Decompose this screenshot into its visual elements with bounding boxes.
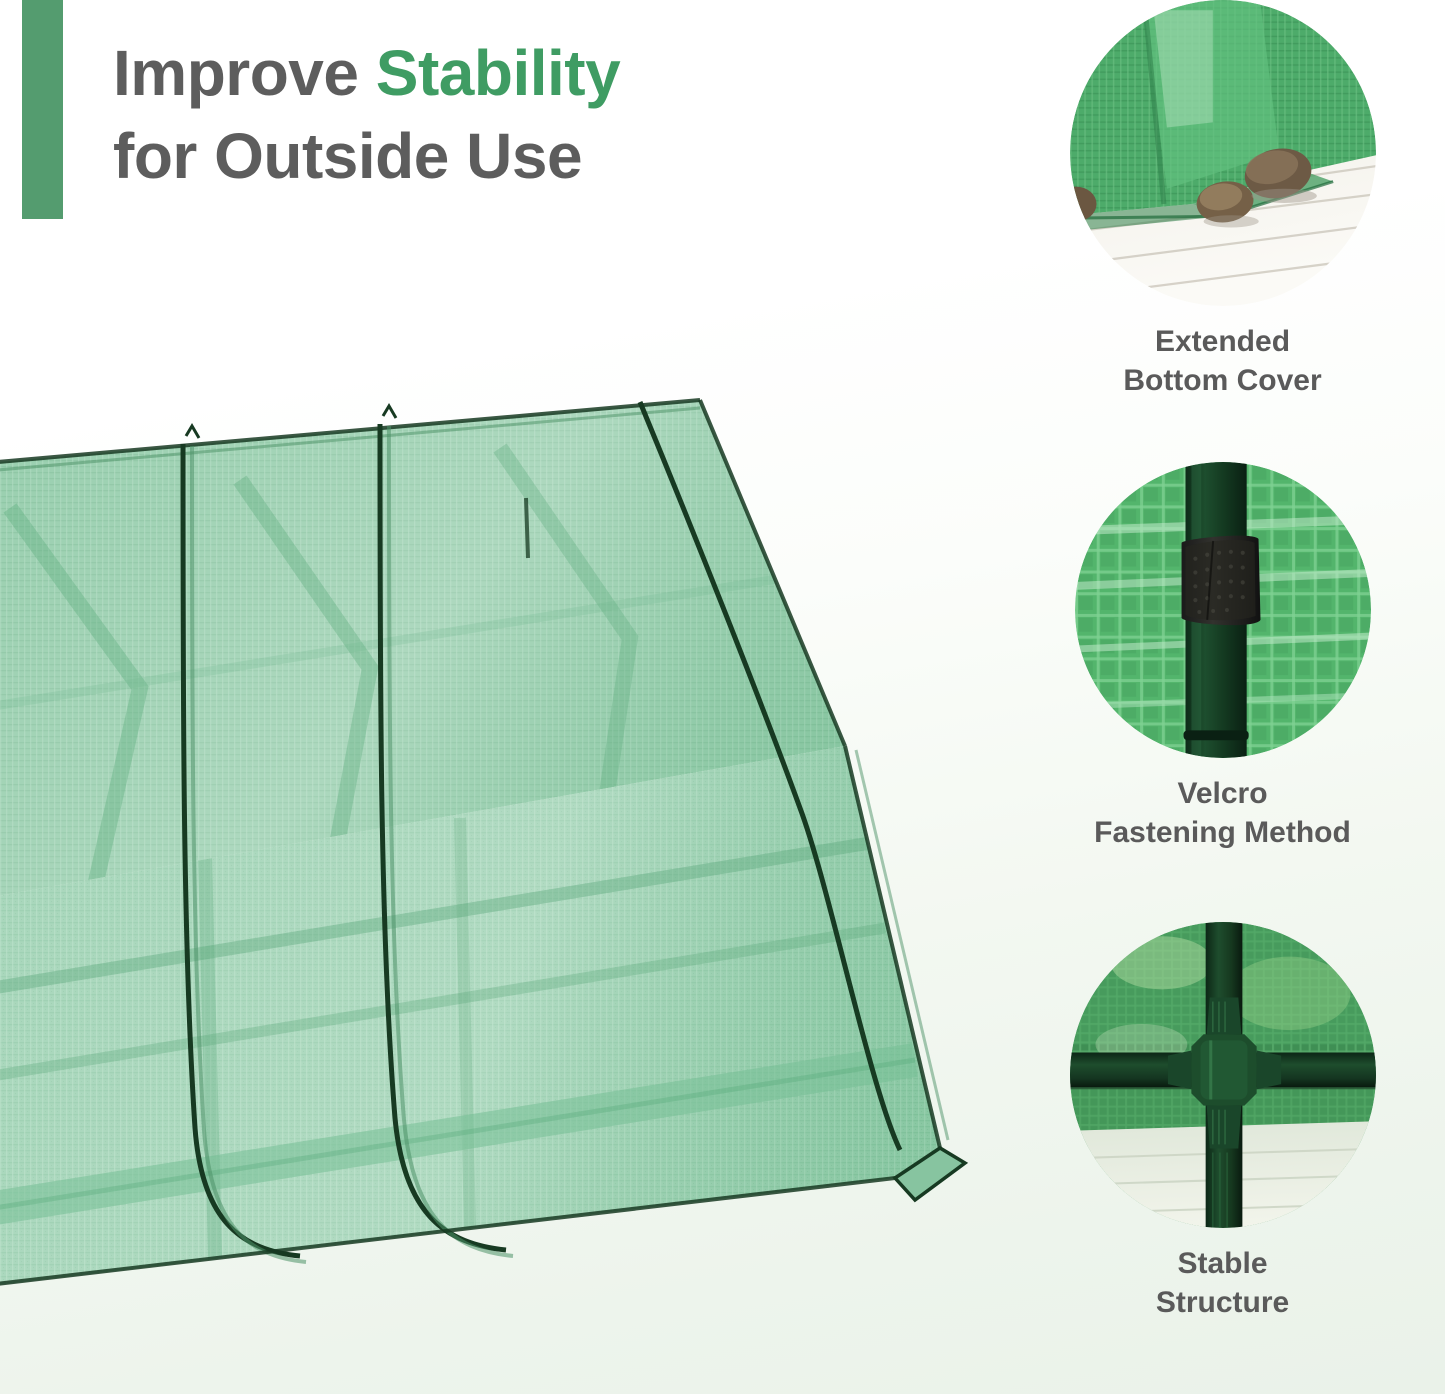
title-highlight: Stability	[376, 37, 620, 109]
caption-line-1: Extended	[1000, 322, 1445, 361]
page-title: Improve Stability for Outside Use	[113, 32, 913, 198]
callout-velcro-fastening: Velcro Fastening Method	[1000, 462, 1445, 852]
zipper-pull-right[interactable]	[526, 498, 528, 558]
callout-caption: Extended Bottom Cover	[1000, 322, 1445, 400]
zipper-pull-left[interactable]	[186, 426, 199, 438]
velcro-strap	[1181, 536, 1260, 626]
caption-line-1: Velcro	[1000, 774, 1445, 813]
stable-structure-photo	[1070, 922, 1376, 1228]
caption-line-2: Structure	[1000, 1283, 1445, 1322]
title-line-2: for Outside Use	[113, 115, 913, 198]
stable-structure-illustration	[1070, 922, 1376, 1228]
extended-bottom-cover-illustration	[1070, 0, 1376, 306]
product-infographic: Improve Stability for Outside Use	[0, 0, 1445, 1394]
velcro-fastening-photo	[1075, 462, 1371, 758]
caption-line-2: Bottom Cover	[1000, 361, 1445, 400]
callout-caption: Stable Structure	[1000, 1244, 1445, 1322]
extended-bottom-cover-photo	[1070, 0, 1376, 306]
caption-line-1: Stable	[1000, 1244, 1445, 1283]
callout-caption: Velcro Fastening Method	[1000, 774, 1445, 852]
velcro-fastening-illustration	[1075, 462, 1371, 758]
zipper-pull-middle[interactable]	[383, 406, 396, 418]
greenhouse-illustration	[0, 388, 1005, 1318]
product-image	[0, 388, 1005, 1318]
callout-stable-structure: Stable Structure	[1000, 922, 1445, 1322]
callout-extended-bottom-cover: Extended Bottom Cover	[1000, 0, 1445, 400]
feature-callout-column: Extended Bottom Cover	[1000, 0, 1445, 1394]
caption-line-2: Fastening Method	[1000, 813, 1445, 852]
accent-bar	[22, 0, 63, 219]
title-plain: Improve	[113, 37, 376, 109]
